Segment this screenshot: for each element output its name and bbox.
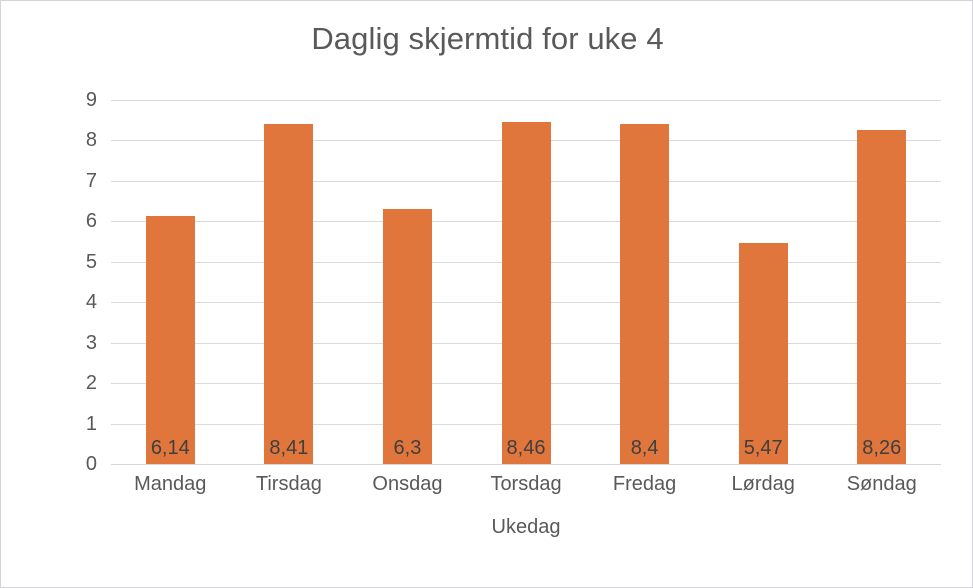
x-axis-tick-label: Fredag: [585, 473, 704, 503]
bar-slot: 6,3: [348, 100, 467, 464]
bar-data-label: 6,14: [151, 438, 190, 458]
plot-area: 6,148,416,38,468,45,478,26: [111, 100, 941, 464]
y-axis-tick-label: 2: [17, 373, 97, 393]
x-axis-tick-label: Torsdag: [467, 473, 586, 503]
x-axis-tick-label: Tirsdag: [230, 473, 349, 503]
bar[interactable]: 8,4: [620, 124, 669, 464]
bar[interactable]: 8,26: [857, 130, 906, 464]
bar-data-label: 8,26: [862, 438, 901, 458]
y-axis-tick-label: 3: [17, 333, 97, 353]
x-axis-title: Ukedag: [111, 516, 941, 539]
y-axis-tick-label: 7: [17, 171, 97, 191]
bar[interactable]: 6,14: [146, 216, 195, 464]
bar-slot: 8,4: [585, 100, 704, 464]
bar[interactable]: 5,47: [739, 243, 788, 464]
gridline: [111, 464, 941, 465]
y-axis-tick-label: 4: [17, 292, 97, 312]
x-axis-tick-labels: MandagTirsdagOnsdagTorsdagFredagLørdagSø…: [111, 473, 941, 503]
y-axis-tick-label: 8: [17, 130, 97, 150]
chart-container: Daglig skjermtid for uke 4 Antall timer …: [0, 0, 973, 588]
x-axis-tick-label: Søndag: [822, 473, 941, 503]
bar-slot: 8,26: [822, 100, 941, 464]
bar-data-label: 5,47: [744, 438, 783, 458]
chart-title: Daglig skjermtid for uke 4: [1, 21, 973, 57]
bar[interactable]: 8,41: [264, 124, 313, 464]
y-axis-tick-label: 6: [17, 211, 97, 231]
bar-series: 6,148,416,38,468,45,478,26: [111, 100, 941, 464]
bar[interactable]: 8,46: [502, 122, 551, 464]
bar-slot: 6,14: [111, 100, 230, 464]
bar-slot: 8,41: [230, 100, 349, 464]
y-axis-tick-labels: 9876543210: [1, 100, 97, 464]
bar-data-label: 8,41: [269, 438, 308, 458]
y-axis-tick-label: 0: [17, 454, 97, 474]
bar-slot: 5,47: [704, 100, 823, 464]
y-axis-tick-label: 9: [17, 90, 97, 110]
bar-data-label: 6,3: [394, 438, 422, 458]
x-axis-tick-label: Lørdag: [704, 473, 823, 503]
x-axis-tick-label: Mandag: [111, 473, 230, 503]
bar-data-label: 8,4: [631, 438, 659, 458]
x-axis-tick-label: Onsdag: [348, 473, 467, 503]
y-axis-tick-label: 1: [17, 414, 97, 434]
bar-data-label: 8,46: [507, 438, 546, 458]
bar-slot: 8,46: [467, 100, 586, 464]
bar[interactable]: 6,3: [383, 209, 432, 464]
y-axis-tick-label: 5: [17, 252, 97, 272]
